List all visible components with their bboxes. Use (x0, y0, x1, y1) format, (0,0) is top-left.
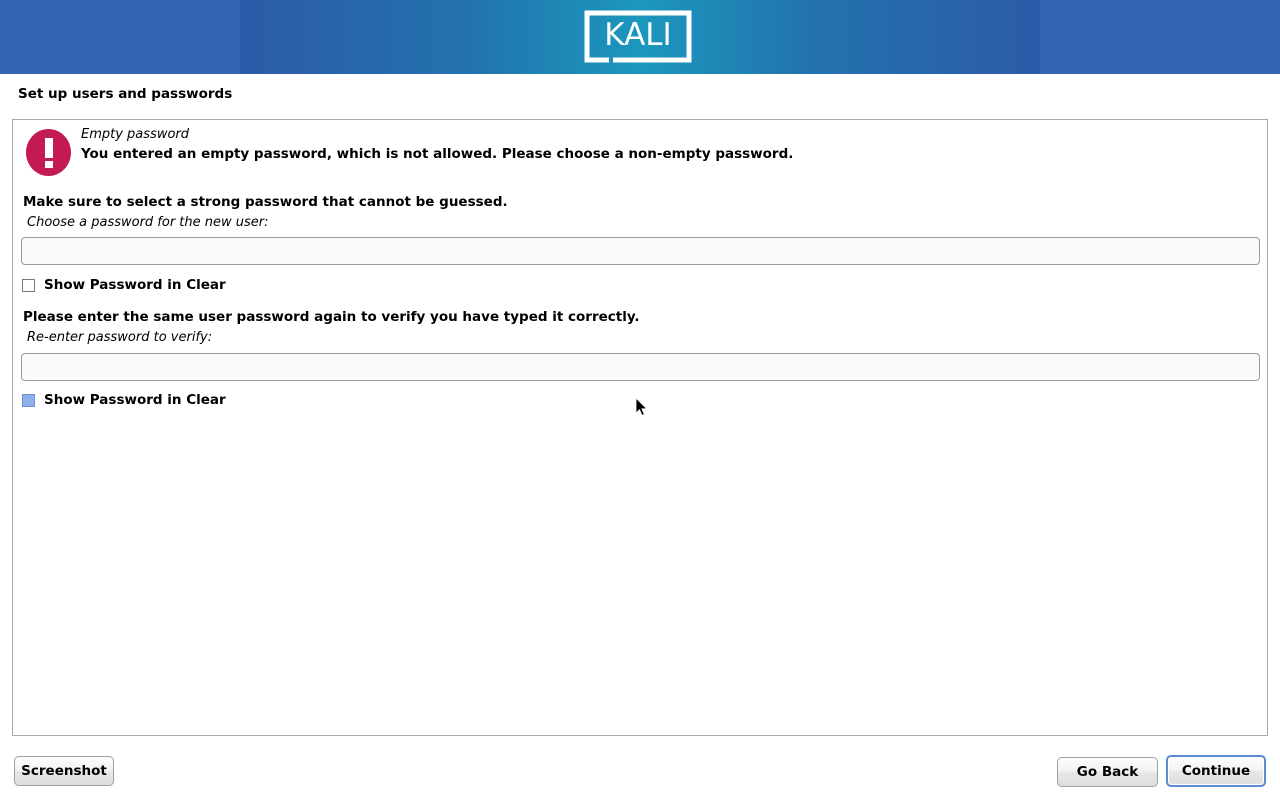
verify-section-heading: Please enter the same user password agai… (23, 309, 640, 325)
screenshot-button[interactable]: Screenshot (14, 756, 114, 786)
exclamation-bar (45, 138, 53, 158)
go-back-button[interactable]: Go Back (1057, 757, 1158, 787)
kali-logo: KALI (583, 9, 697, 66)
show-password-checkbox-2[interactable] (22, 394, 35, 407)
password-field-label: Choose a password for the new user: (27, 215, 269, 230)
verify-field-label: Re-enter password to verify: (27, 330, 212, 345)
continue-button[interactable]: Continue (1166, 755, 1266, 787)
show-password-checkbox-row-1[interactable]: Show Password in Clear (22, 277, 226, 293)
header-banner: KALI (0, 0, 1280, 74)
exclamation-dot (45, 161, 53, 168)
show-password-checkbox-1[interactable] (22, 279, 35, 292)
show-password-label-1: Show Password in Clear (44, 277, 226, 293)
password-section-heading: Make sure to select a strong password th… (23, 194, 508, 210)
password-input[interactable] (21, 237, 1260, 265)
content-panel: Empty password You entered an empty pass… (12, 119, 1268, 736)
show-password-checkbox-row-2[interactable]: Show Password in Clear (22, 392, 226, 408)
error-exclamation-icon (26, 129, 71, 176)
kali-logo-text: KALI (583, 9, 693, 62)
error-title: Empty password (81, 127, 189, 142)
show-password-label-2: Show Password in Clear (44, 392, 226, 408)
page-title: Set up users and passwords (18, 86, 232, 102)
verify-password-input[interactable] (21, 353, 1260, 381)
error-block: Empty password You entered an empty pass… (13, 120, 1267, 184)
error-message: You entered an empty password, which is … (81, 146, 793, 162)
